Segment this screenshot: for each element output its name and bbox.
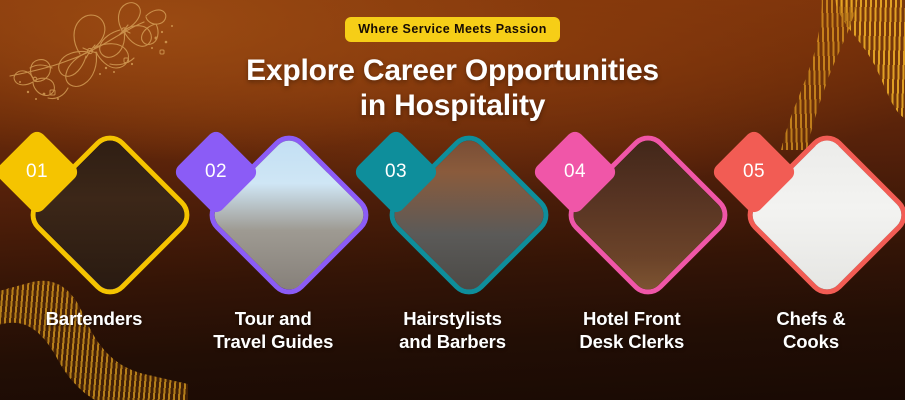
title-line-1: Explore Career Opportunities [0, 53, 905, 88]
career-item[interactable]: 02 Tour and Travel Guides [185, 135, 361, 354]
tagline-badge: Where Service Meets Passion [345, 17, 560, 42]
page-title: Explore Career Opportunities in Hospital… [0, 53, 905, 123]
title-line-2: in Hospitality [0, 88, 905, 123]
career-item[interactable]: 03 Hairstylists and Barbers [365, 135, 541, 354]
career-figure: 02 [185, 135, 361, 305]
career-figure: 01 [6, 135, 182, 305]
career-label: Bartenders [46, 307, 143, 330]
career-item[interactable]: 04 Hotel Front Desk Clerks [544, 135, 720, 354]
career-figure: 03 [365, 135, 541, 305]
badge-number: 02 [205, 161, 227, 183]
badge-number: 01 [26, 161, 48, 183]
badge-number: 05 [743, 161, 765, 183]
career-label: Hotel Front Desk Clerks [579, 307, 684, 354]
poster-header: Where Service Meets Passion Explore Care… [0, 0, 905, 123]
career-items-row: 01 Bartenders 02 Tour and Travel Guides [0, 135, 905, 354]
career-item[interactable]: 05 Chefs & Cooks [723, 135, 899, 354]
infographic-poster: Where Service Meets Passion Explore Care… [0, 0, 905, 400]
career-figure: 05 [723, 135, 899, 305]
badge-number: 03 [384, 161, 406, 183]
career-label: Tour and Travel Guides [213, 307, 333, 354]
career-item[interactable]: 01 Bartenders [6, 135, 182, 330]
career-label: Hairstylists and Barbers [399, 307, 506, 354]
badge-number: 04 [564, 161, 586, 183]
career-figure: 04 [544, 135, 720, 305]
career-label: Chefs & Cooks [776, 307, 845, 354]
